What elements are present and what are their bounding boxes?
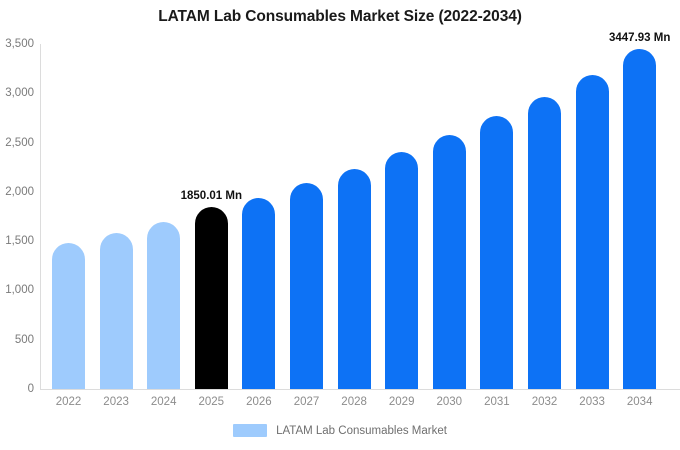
bar-2022[interactable] xyxy=(52,243,85,389)
bar-2027[interactable] xyxy=(290,183,323,389)
bar-2031[interactable] xyxy=(480,116,513,389)
y-axis-tick-labels: 05001,0001,5002,0002,5003,0003,500 xyxy=(0,44,34,390)
y-axis-tick-label: 2,000 xyxy=(5,186,34,198)
bar-2024[interactable] xyxy=(147,222,180,389)
bar-2028[interactable] xyxy=(338,169,371,389)
plot-area: 1850.01 Mn3447.93 Mn xyxy=(40,44,680,390)
bar-2030[interactable] xyxy=(433,135,466,389)
bar-2029[interactable] xyxy=(385,152,418,389)
x-axis-tick-labels: 2022202320242025202620272028202920302031… xyxy=(40,396,680,414)
chart-legend: LATAM Lab Consumables Market xyxy=(0,424,680,437)
bar-2032[interactable] xyxy=(528,97,561,389)
y-axis-tick-label: 3,500 xyxy=(5,38,34,50)
bar-2033[interactable] xyxy=(576,75,609,389)
y-axis-tick-label: 3,000 xyxy=(5,87,34,99)
x-axis-tick-label: 2034 xyxy=(610,396,670,408)
chart-title: LATAM Lab Consumables Market Size (2022-… xyxy=(0,8,680,26)
bar-chart: LATAM Lab Consumables Market Size (2022-… xyxy=(0,0,680,450)
legend-item-label: LATAM Lab Consumables Market xyxy=(276,425,447,437)
y-axis-tick-label: 1,500 xyxy=(5,235,34,247)
bar-2026[interactable] xyxy=(242,198,275,389)
bar-2023[interactable] xyxy=(100,233,133,389)
data-label-2025: 1850.01 Mn xyxy=(181,190,242,202)
data-label-2034: 3447.93 Mn xyxy=(609,32,670,44)
y-axis-tick-label: 500 xyxy=(15,334,34,346)
bar-2034[interactable] xyxy=(623,49,656,389)
y-axis-tick-label: 2,500 xyxy=(5,137,34,149)
y-axis-tick-label: 1,000 xyxy=(5,284,34,296)
y-axis-tick-label: 0 xyxy=(28,383,34,395)
bar-2025[interactable] xyxy=(195,207,228,389)
legend-swatch-icon xyxy=(233,424,267,437)
bar-series xyxy=(40,44,680,390)
